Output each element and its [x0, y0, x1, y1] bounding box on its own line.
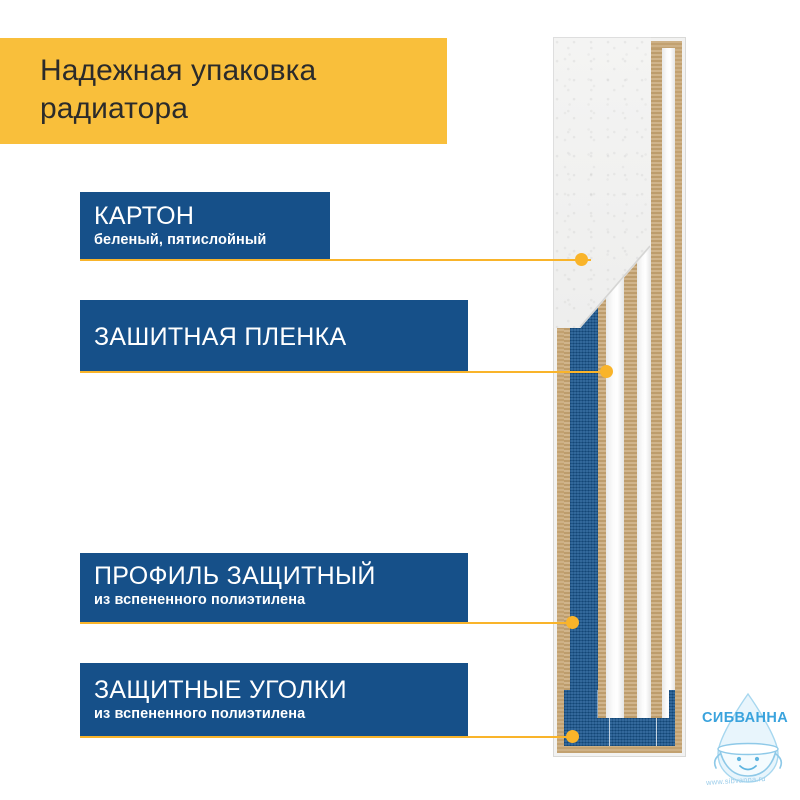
- leader-line-ugolki: [80, 736, 572, 738]
- leader-dot-ugolki: [566, 730, 579, 743]
- corner-seam-1: [609, 718, 610, 746]
- leader-dot-plenka: [600, 365, 613, 378]
- callout-plenka-title: ЗАШИТНАЯ ПЛЕНКА: [94, 322, 468, 352]
- leader-dot-karton: [575, 253, 588, 266]
- leader-line-profil: [80, 622, 572, 624]
- callout-karton[interactable]: КАРТОН беленый, пятислойный: [80, 192, 330, 260]
- radiator-package-illustration: [553, 37, 686, 757]
- callout-ugolki-subtitle: из вспененного полиэтилена: [94, 705, 468, 724]
- callout-profil-title: ПРОФИЛЬ ЗАЩИТНЫЙ: [94, 561, 468, 591]
- leader-line-plenka: [80, 371, 606, 373]
- layer-kraft-4: [651, 48, 662, 746]
- callout-profil-subtitle: из вспененного полиэтилена: [94, 591, 468, 610]
- page-title: Надежная упаковка радиатора: [40, 52, 447, 128]
- callout-zashitnaya-plenka[interactable]: ЗАШИТНАЯ ПЛЕНКА: [80, 300, 468, 372]
- callout-karton-title: КАРТОН: [94, 201, 330, 231]
- callout-ugolki-title: ЗАЩИТНЫЕ УГОЛКИ: [94, 675, 468, 705]
- logo-wordmark: СИБВАННА: [702, 710, 788, 726]
- leader-dot-profil: [566, 616, 579, 629]
- title-block: Надежная упаковка радиатора: [0, 38, 447, 144]
- callout-zashitnye-ugolki[interactable]: ЗАЩИТНЫЕ УГОЛКИ из вспененного полиэтиле…: [80, 663, 468, 737]
- leader-line-karton: [80, 259, 591, 261]
- callout-karton-subtitle: беленый, пятислойный: [94, 231, 330, 250]
- callout-profil-zashitny[interactable]: ПРОФИЛЬ ЗАЩИТНЫЙ из вспененного полиэтил…: [80, 553, 468, 623]
- corner-seam-2: [656, 718, 657, 746]
- protective-corner-right: [669, 690, 675, 746]
- layer-film-3: [662, 48, 675, 746]
- protective-corner-bottom: [564, 718, 675, 746]
- infographic-canvas: Надежная упаковка радиатора: [0, 0, 800, 800]
- sibvanna-logo[interactable]: СИБВАННА www.sibvanna.ru: [700, 688, 796, 792]
